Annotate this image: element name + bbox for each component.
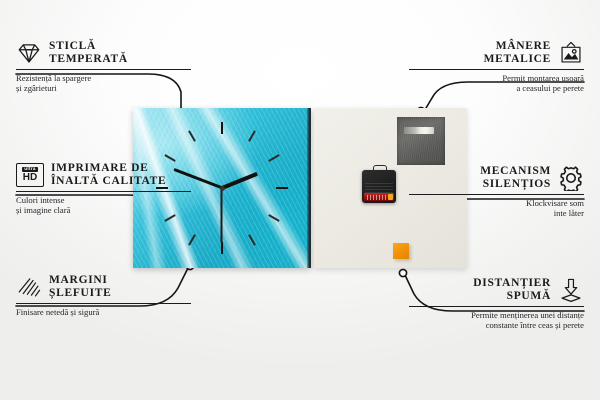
feature-title: STICLĂ TEMPERATĂ [49,40,128,66]
metal-hanger-part [397,117,445,165]
feature-title: MECANISM SILENȚIOS [480,165,551,191]
tick-2 [268,154,279,162]
feature-silent-mechanism: MECANISM SILENȚIOS Klockvisare som inte … [409,165,584,219]
gear-icon [558,165,584,191]
mechanism-body [362,170,396,203]
tick-11 [188,130,196,141]
feature-header: DISTANȚIER SPUMĂ [409,277,584,303]
polished-edges-icon [16,274,42,300]
product-infographic: STICLĂ TEMPERATĂ Rezistență la spargere … [0,0,600,400]
feature-divider [16,69,191,70]
battery-part [364,193,394,201]
picture-frame-hanger-icon [558,40,584,66]
feature-foam-spacer: DISTANȚIER SPUMĂ Permite menținerea unei… [409,277,584,331]
ultra-hd-badge-icon: ultra HD [16,163,44,187]
feature-title: MÂNERE METALICE [484,40,551,66]
feature-divider [16,191,191,192]
feature-hd-print: ultra HD IMPRIMARE DE ÎNALTĂ CALITATE Cu… [16,162,191,216]
diamond-icon [16,40,42,66]
tick-12 [221,122,223,134]
feature-divider [409,194,584,195]
feature-description: Klockvisare som inte låter [409,198,584,219]
feature-description: Rezistență la spargere și zgârieturi [16,73,191,94]
connector-dot-foam-spacer [399,269,406,276]
feature-divider [409,306,584,307]
feature-description: Culori intense și imagine clară [16,195,191,216]
tick-7 [188,234,196,245]
feature-header: STICLĂ TEMPERATĂ [16,40,191,66]
tick-4 [268,214,279,222]
clock-mechanism-part [362,165,396,203]
tick-10 [164,154,175,162]
hd-label: HD [23,173,37,183]
feature-description: Permit montarea ușoară a ceasului pe per… [409,73,584,94]
tick-6 [221,242,223,254]
feature-metal-handles: MÂNERE METALICE Permit montarea ușoară a… [409,40,584,94]
hanger-slot [404,127,434,134]
tick-5 [248,234,256,245]
feature-tempered-glass: STICLĂ TEMPERATĂ Rezistență la spargere … [16,40,191,94]
feature-header: MÂNERE METALICE [409,40,584,66]
feature-description: Permite menținerea unei distanțe constan… [409,310,584,331]
feature-divider [16,303,191,304]
down-arrow-stack-icon [558,277,584,303]
foam-spacer-part [393,243,409,259]
tick-1 [248,130,256,141]
feature-title: IMPRIMARE DE ÎNALTĂ CALITATE [51,162,166,188]
feature-title: MARGINI ȘLEFUITE [49,274,111,300]
battery-label [367,195,387,200]
feature-title: DISTANȚIER SPUMĂ [473,277,551,303]
clock-center-cap [220,186,225,191]
feature-description: Finisare netedă și sigură [16,307,191,317]
feature-divider [409,69,584,70]
mechanism-label-lines [365,181,393,193]
tick-3 [276,187,288,189]
feature-header: MECANISM SILENȚIOS [409,165,584,191]
feature-polished-edges: MARGINI ȘLEFUITE Finisare netedă și sigu… [16,274,191,317]
feature-header: MARGINI ȘLEFUITE [16,274,191,300]
feature-header: ultra HD IMPRIMARE DE ÎNALTĂ CALITATE [16,162,191,188]
